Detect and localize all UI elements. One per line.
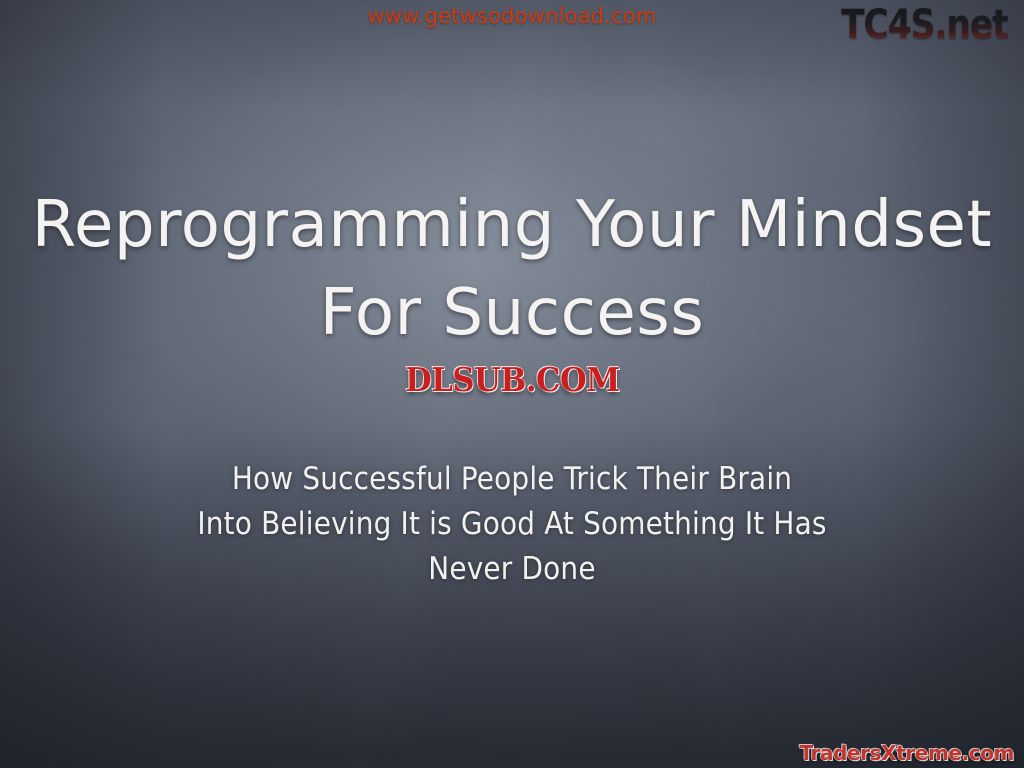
slide-title-line-2: For Success — [0, 269, 1024, 357]
slide-subtitle-line-2: Into Believing It is Good At Something I… — [0, 502, 1024, 547]
slide-subtitle: How Successful People Trick Their Brain … — [0, 457, 1024, 592]
watermark-tc4s-logo: TC4S.net — [841, 2, 1008, 48]
watermark-dlsub-text: DLSUB.COM — [405, 360, 620, 399]
watermark-dlsub: DLSUB.COM — [0, 360, 1024, 399]
presentation-slide: www.getwsodownload.com TC4S.net Reprogra… — [0, 0, 1024, 768]
watermark-tradersxtreme: TradersXtreme.com — [800, 741, 1015, 765]
slide-content: www.getwsodownload.com TC4S.net Reprogra… — [0, 0, 1024, 768]
slide-title: Reprogramming Your Mindset For Success — [0, 181, 1024, 357]
slide-subtitle-line-1: How Successful People Trick Their Brain — [0, 457, 1024, 502]
slide-subtitle-line-3: Never Done — [0, 547, 1024, 592]
slide-title-line-1: Reprogramming Your Mindset — [32, 188, 992, 262]
